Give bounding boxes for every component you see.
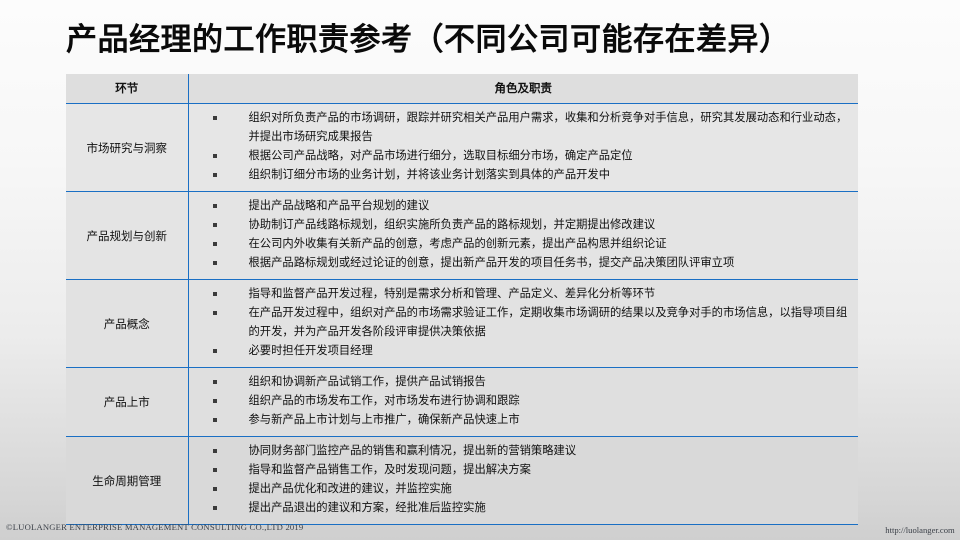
- list-item: 根据产品路标规划或经过论证的创意，提出新产品开发的项目任务书，提交产品决策团队评…: [189, 254, 849, 273]
- column-header-stage: 环节: [66, 74, 188, 104]
- list-item: 提出产品战略和产品平台规划的建议: [189, 197, 849, 216]
- table-row: 产品概念 指导和监督产品开发过程，特别是需求分析和管理、产品定义、差异化分析等环…: [66, 280, 858, 368]
- list-item: 指导和监督产品销售工作，及时发现问题，提出解决方案: [189, 461, 849, 480]
- duties-cell: 提出产品战略和产品平台规划的建议 协助制订产品线路标规划，组织实施所负责产品的路…: [188, 192, 858, 280]
- list-item: 指导和监督产品开发过程，特别是需求分析和管理、产品定义、差异化分析等环节: [189, 285, 849, 304]
- footer-copyright: ©LUOLANGER ENTERPRISE MANAGEMENT CONSULT…: [6, 522, 303, 532]
- table-row: 产品规划与创新 提出产品战略和产品平台规划的建议 协助制订产品线路标规划，组织实…: [66, 192, 858, 280]
- stage-cell: 产品上市: [66, 368, 188, 437]
- duties-cell: 协同财务部门监控产品的销售和赢利情况，提出新的营销策略建议 指导和监督产品销售工…: [188, 437, 858, 525]
- table-row: 产品上市 组织和协调新产品试销工作，提供产品试销报告 组织产品的市场发布工作，对…: [66, 368, 858, 437]
- list-item: 协同财务部门监控产品的销售和赢利情况，提出新的营销策略建议: [189, 442, 849, 461]
- duties-list: 指导和监督产品开发过程，特别是需求分析和管理、产品定义、差异化分析等环节 在产品…: [189, 285, 849, 361]
- table-row: 市场研究与洞察 组织对所负责产品的市场调研，跟踪并研究相关产品用户需求，收集和分…: [66, 104, 858, 192]
- list-item: 组织制订细分市场的业务计划，并将该业务计划落实到具体的产品开发中: [189, 166, 849, 185]
- list-item: 参与新产品上市计划与上市推广，确保新产品快速上市: [189, 411, 849, 430]
- responsibilities-table: 环节 角色及职责 市场研究与洞察 组织对所负责产品的市场调研，跟踪并研究相关产品…: [66, 74, 858, 525]
- footer-url: http://luolanger.com: [884, 525, 956, 535]
- duties-list: 协同财务部门监控产品的销售和赢利情况，提出新的营销策略建议 指导和监督产品销售工…: [189, 442, 849, 518]
- stage-cell: 市场研究与洞察: [66, 104, 188, 192]
- list-item: 组织和协调新产品试销工作，提供产品试销报告: [189, 373, 849, 392]
- stage-cell: 生命周期管理: [66, 437, 188, 525]
- page-title: 产品经理的工作职责参考（不同公司可能存在差异）: [66, 14, 946, 59]
- duties-cell: 组织对所负责产品的市场调研，跟踪并研究相关产品用户需求，收集和分析竞争对手信息，…: [188, 104, 858, 192]
- list-item: 必要时担任开发项目经理: [189, 342, 849, 361]
- table-header-row: 环节 角色及职责: [66, 74, 858, 104]
- list-item: 根据公司产品战略，对产品市场进行细分，选取目标细分市场，确定产品定位: [189, 147, 849, 166]
- table-body: 市场研究与洞察 组织对所负责产品的市场调研，跟踪并研究相关产品用户需求，收集和分…: [66, 104, 858, 525]
- stage-cell: 产品规划与创新: [66, 192, 188, 280]
- duties-cell: 指导和监督产品开发过程，特别是需求分析和管理、产品定义、差异化分析等环节 在产品…: [188, 280, 858, 368]
- list-item: 组织产品的市场发布工作，对市场发布进行协调和跟踪: [189, 392, 849, 411]
- table-row: 生命周期管理 协同财务部门监控产品的销售和赢利情况，提出新的营销策略建议 指导和…: [66, 437, 858, 525]
- list-item: 提出产品优化和改进的建议，并监控实施: [189, 480, 849, 499]
- duties-cell: 组织和协调新产品试销工作，提供产品试销报告 组织产品的市场发布工作，对市场发布进…: [188, 368, 858, 437]
- duties-list: 组织对所负责产品的市场调研，跟踪并研究相关产品用户需求，收集和分析竞争对手信息，…: [189, 109, 849, 185]
- list-item: 提出产品退出的建议和方案，经批准后监控实施: [189, 499, 849, 518]
- list-item: 在公司内外收集有关新产品的创意，考虑产品的创新元素，提出产品构思并组织论证: [189, 235, 849, 254]
- list-item: 在产品开发过程中，组织对产品的市场需求验证工作，定期收集市场调研的结果以及竞争对…: [189, 304, 849, 342]
- column-header-duties: 角色及职责: [188, 74, 858, 104]
- list-item: 协助制订产品线路标规划，组织实施所负责产品的路标规划，并定期提出修改建议: [189, 216, 849, 235]
- list-item: 组织对所负责产品的市场调研，跟踪并研究相关产品用户需求，收集和分析竞争对手信息，…: [189, 109, 849, 147]
- stage-cell: 产品概念: [66, 280, 188, 368]
- duties-list: 提出产品战略和产品平台规划的建议 协助制订产品线路标规划，组织实施所负责产品的路…: [189, 197, 849, 273]
- duties-list: 组织和协调新产品试销工作，提供产品试销报告 组织产品的市场发布工作，对市场发布进…: [189, 373, 849, 430]
